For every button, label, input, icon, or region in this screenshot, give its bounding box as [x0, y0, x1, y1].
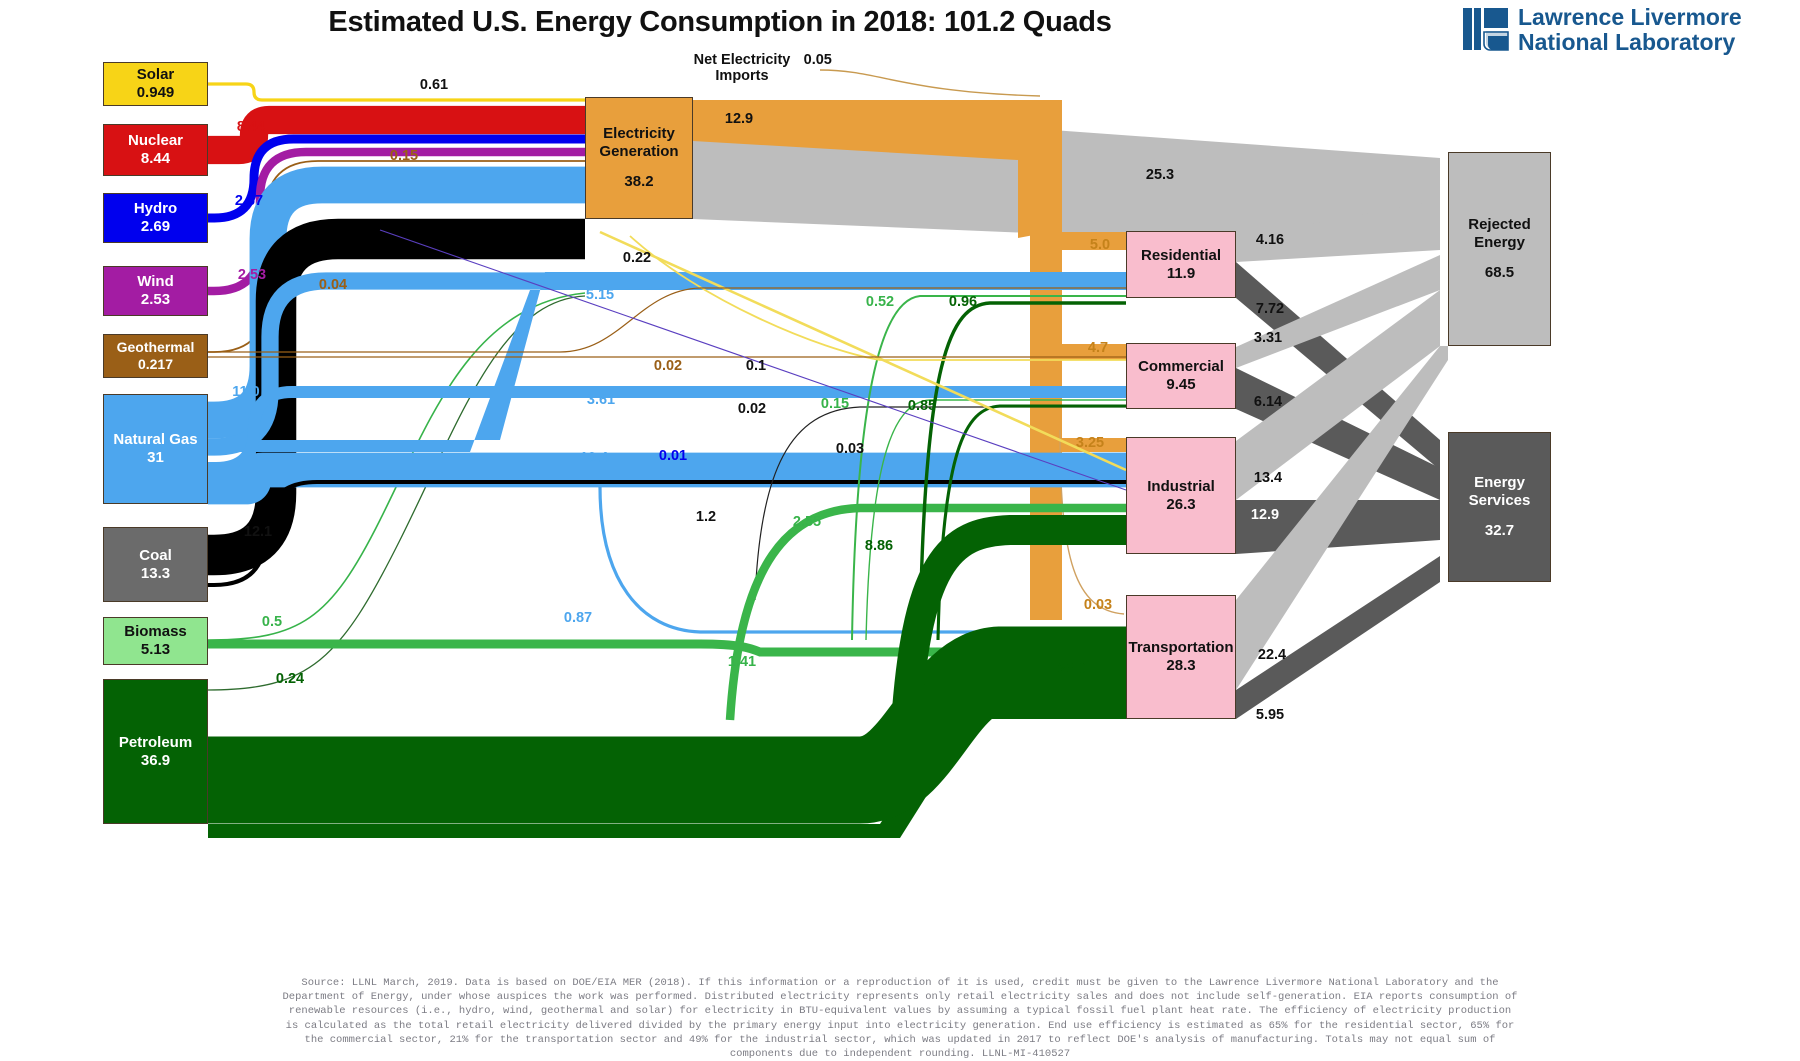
flow-label-geothermal-residential: 0.04: [319, 277, 347, 293]
flow-label-coal-industrial: 1.2: [696, 509, 716, 525]
flow-label-nuclear-electricity: 8.44: [237, 119, 265, 135]
flow-solar-electricity: [208, 84, 585, 100]
node-natural_gas: Natural Gas31: [103, 394, 208, 504]
node-geothermal: Geothermal0.217: [103, 334, 208, 378]
flow-label-transportation-rejected: 22.4: [1258, 647, 1286, 663]
node-label-natural_gas: Natural Gas: [113, 431, 197, 449]
flow-label-biomass-transportation: 1.41: [728, 654, 756, 670]
node-industrial: Industrial26.3: [1126, 437, 1236, 554]
flow-label-biomass-residential: 0.52: [866, 294, 894, 310]
node-value-petroleum: 36.9: [141, 752, 170, 770]
node-nuclear: Nuclear8.44: [103, 124, 208, 176]
flow-electricity-residential-b: [1030, 232, 1062, 250]
node-label-geothermal: Geothermal: [117, 339, 195, 356]
flow-label-coal-electricity: 12.1: [244, 524, 272, 540]
flow-label-coal-commercial: 0.02: [738, 401, 766, 417]
node-label-services: EnergyServices: [1469, 474, 1531, 509]
node-label-coal: Coal: [139, 547, 172, 565]
flow-label-natural_gas-industrial: 10.4: [580, 450, 608, 466]
flow-label-biomass-commercial: 0.15: [821, 396, 849, 412]
flow-label-electricity-transportation: 0.03: [1084, 597, 1112, 613]
node-wind: Wind2.53: [103, 266, 208, 316]
source-footnote: Source: LLNL March, 2019. Data is based …: [280, 976, 1520, 1061]
flow-label-residential-services: 7.72: [1256, 301, 1284, 317]
flow-label-petroleum-commercial: 0.85: [908, 398, 936, 414]
node-value-biomass: 5.13: [141, 641, 170, 659]
flow-naturalgas-industrial: [208, 470, 1126, 487]
flow-label-electricity-commercial: 4.7: [1088, 340, 1108, 356]
sankey-diagram: Estimated U.S. Energy Consumption in 201…: [0, 0, 1800, 1059]
node-value-transportation: 28.3: [1166, 657, 1195, 675]
flow-label-commercial-services: 6.14: [1254, 394, 1282, 410]
node-value-electricity: 38.2: [624, 173, 653, 191]
node-value-geothermal: 0.217: [138, 356, 173, 373]
node-value-solar: 0.949: [137, 84, 175, 102]
node-value-services: 32.7: [1485, 522, 1514, 540]
flow-label-petroleum-electricity: 0.24: [276, 671, 304, 687]
node-electricity: ElectricityGeneration38.2: [585, 97, 693, 219]
flow-label-petroleum-transportation: 26.0: [1058, 661, 1086, 677]
node-value-industrial: 26.3: [1166, 496, 1195, 514]
node-solar: Solar0.949: [103, 62, 208, 106]
flow-label-biomass-industrial: 2.55: [793, 514, 821, 530]
node-value-residential: 11.9: [1167, 265, 1195, 283]
flow-label-electricity-residential: 5.0: [1090, 237, 1110, 253]
net-electricity-imports-label: Net ElectricityImports0.05: [694, 52, 791, 84]
flow-label-hydro-industrial: 0.01: [659, 448, 687, 464]
flow-label-commercial-rejected: 3.31: [1254, 330, 1282, 346]
node-label-petroleum: Petroleum: [119, 734, 192, 752]
node-label-residential: Residential: [1141, 247, 1221, 265]
flow-label-hydro-electricity: 2.67: [235, 193, 263, 209]
flow-label-electricity-rejected: 25.3: [1146, 167, 1174, 183]
node-value-commercial: 9.45: [1166, 376, 1195, 394]
node-rejected: RejectedEnergy68.5: [1448, 152, 1551, 346]
node-label-commercial: Commercial: [1138, 358, 1224, 376]
node-label-wind: Wind: [137, 273, 174, 291]
flow-geothermal-residential-line: [208, 288, 1126, 352]
flow-label-industrial-rejected: 13.4: [1254, 470, 1282, 486]
node-label-hydro: Hydro: [134, 200, 177, 218]
node-value-coal: 13.3: [141, 565, 170, 583]
node-petroleum: Petroleum36.9: [103, 679, 208, 824]
flow-label-petroleum-residential: 0.96: [949, 294, 977, 310]
flow-label-petroleum-industrial: 8.86: [865, 538, 893, 554]
flow-label-wind-electricity: 2.53: [238, 267, 266, 283]
node-residential: Residential11.9: [1126, 231, 1236, 298]
flow-label-solar-residential: 0.22: [623, 250, 651, 266]
node-commercial: Commercial9.45: [1126, 343, 1236, 409]
node-value-natural_gas: 31: [147, 449, 164, 467]
node-transportation: Transportation28.3: [1126, 595, 1236, 719]
node-label-solar: Solar: [137, 66, 175, 84]
flow-label-electricity-industrial: 3.25: [1076, 435, 1104, 451]
node-value-nuclear: 8.44: [141, 150, 170, 168]
flow-label-solar-commercial: 0.1: [746, 358, 766, 374]
node-value-rejected: 68.5: [1485, 264, 1514, 282]
flow-net-imports-electricity: [820, 70, 1040, 96]
flow-label-electricity_flow-distributed: 12.9: [725, 111, 753, 127]
node-label-transportation: Transportation: [1128, 639, 1233, 657]
flow-label-residential-rejected: 4.16: [1256, 232, 1284, 248]
flow-label-solar-electricity: 0.61: [420, 77, 448, 93]
node-services: EnergyServices32.7: [1448, 432, 1551, 582]
node-value-wind: 2.53: [141, 291, 170, 309]
node-label-industrial: Industrial: [1147, 478, 1215, 496]
node-label-electricity: ElectricityGeneration: [599, 125, 678, 160]
flow-label-natural_gas-electricity: 11.0: [232, 384, 259, 400]
flow-label-biomass-electricity: 0.5: [262, 614, 282, 630]
node-label-biomass: Biomass: [124, 623, 187, 641]
flow-label-natural_gas-commercial: 3.61: [587, 392, 615, 408]
flow-petroleum-transportation: [208, 670, 1126, 780]
node-coal: Coal13.3: [103, 527, 208, 602]
node-label-nuclear: Nuclear: [128, 132, 183, 150]
flow-label-industrial-services: 12.9: [1251, 507, 1279, 523]
node-label-rejected: RejectedEnergy: [1468, 216, 1531, 251]
flow-label-natural_gas-residential: 5.15: [586, 287, 614, 303]
flow-label-solar-industrial: 0.03: [836, 441, 864, 457]
flow-label-transportation-services: 5.95: [1256, 707, 1284, 723]
flow-label-geothermal-electricity: 0.15: [390, 148, 418, 164]
flow-label-natural_gas-transportation: 0.87: [564, 610, 592, 626]
node-hydro: Hydro2.69: [103, 193, 208, 243]
node-biomass: Biomass5.13: [103, 617, 208, 665]
node-value-hydro: 2.69: [141, 218, 170, 236]
flow-label-geothermal-commercial: 0.02: [654, 358, 682, 374]
